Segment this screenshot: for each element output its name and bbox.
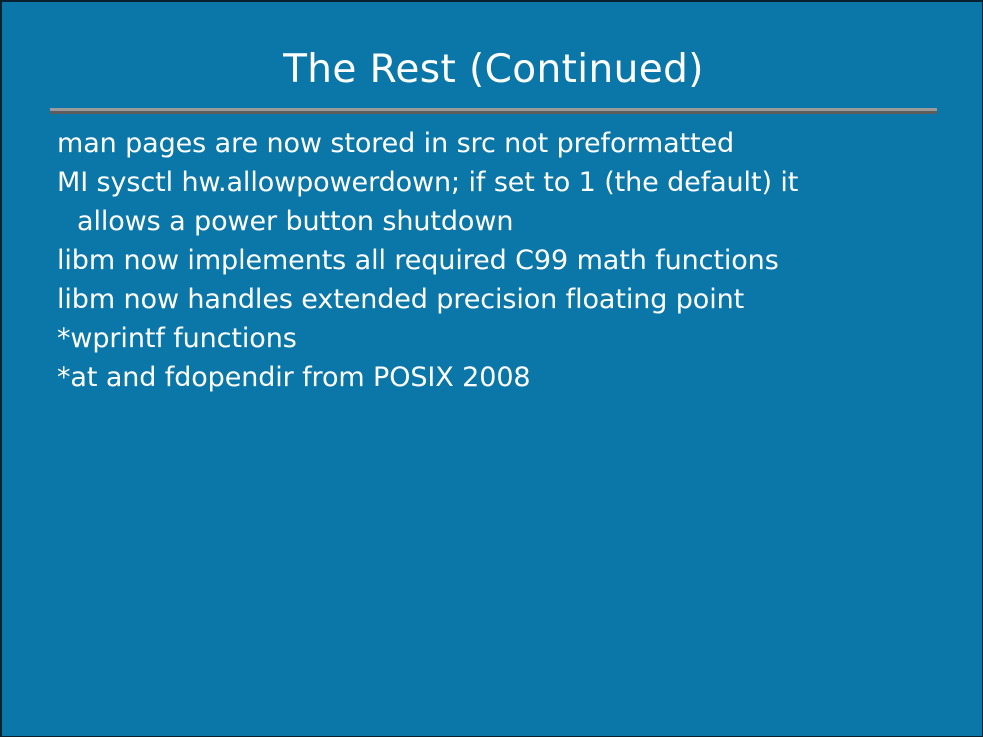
slide-body-line: allows a power button shutdown: [57, 202, 967, 241]
title-divider-shadow: [50, 111, 937, 114]
title-divider-rule: [50, 108, 937, 114]
slide-title-placeholder[interactable]: The Rest (Continued): [2, 46, 983, 94]
presentation-slide: The Rest (Continued) man pages are now s…: [0, 0, 983, 737]
slide-body-placeholder[interactable]: man pages are now stored in src not pref…: [57, 124, 967, 397]
slide-body-line: libm now implements all required C99 mat…: [57, 241, 967, 280]
slide-body-line: MI sysctl hw.allowpowerdown; if set to 1…: [57, 163, 967, 202]
slide-body-line: libm now handles extended precision floa…: [57, 280, 967, 319]
slide-body-line: man pages are now stored in src not pref…: [57, 124, 967, 163]
slide-body-line: *at and fdopendir from POSIX 2008: [57, 358, 967, 397]
slide-body-line: *wprintf functions: [57, 319, 967, 358]
slide-title: The Rest (Continued): [283, 46, 704, 94]
